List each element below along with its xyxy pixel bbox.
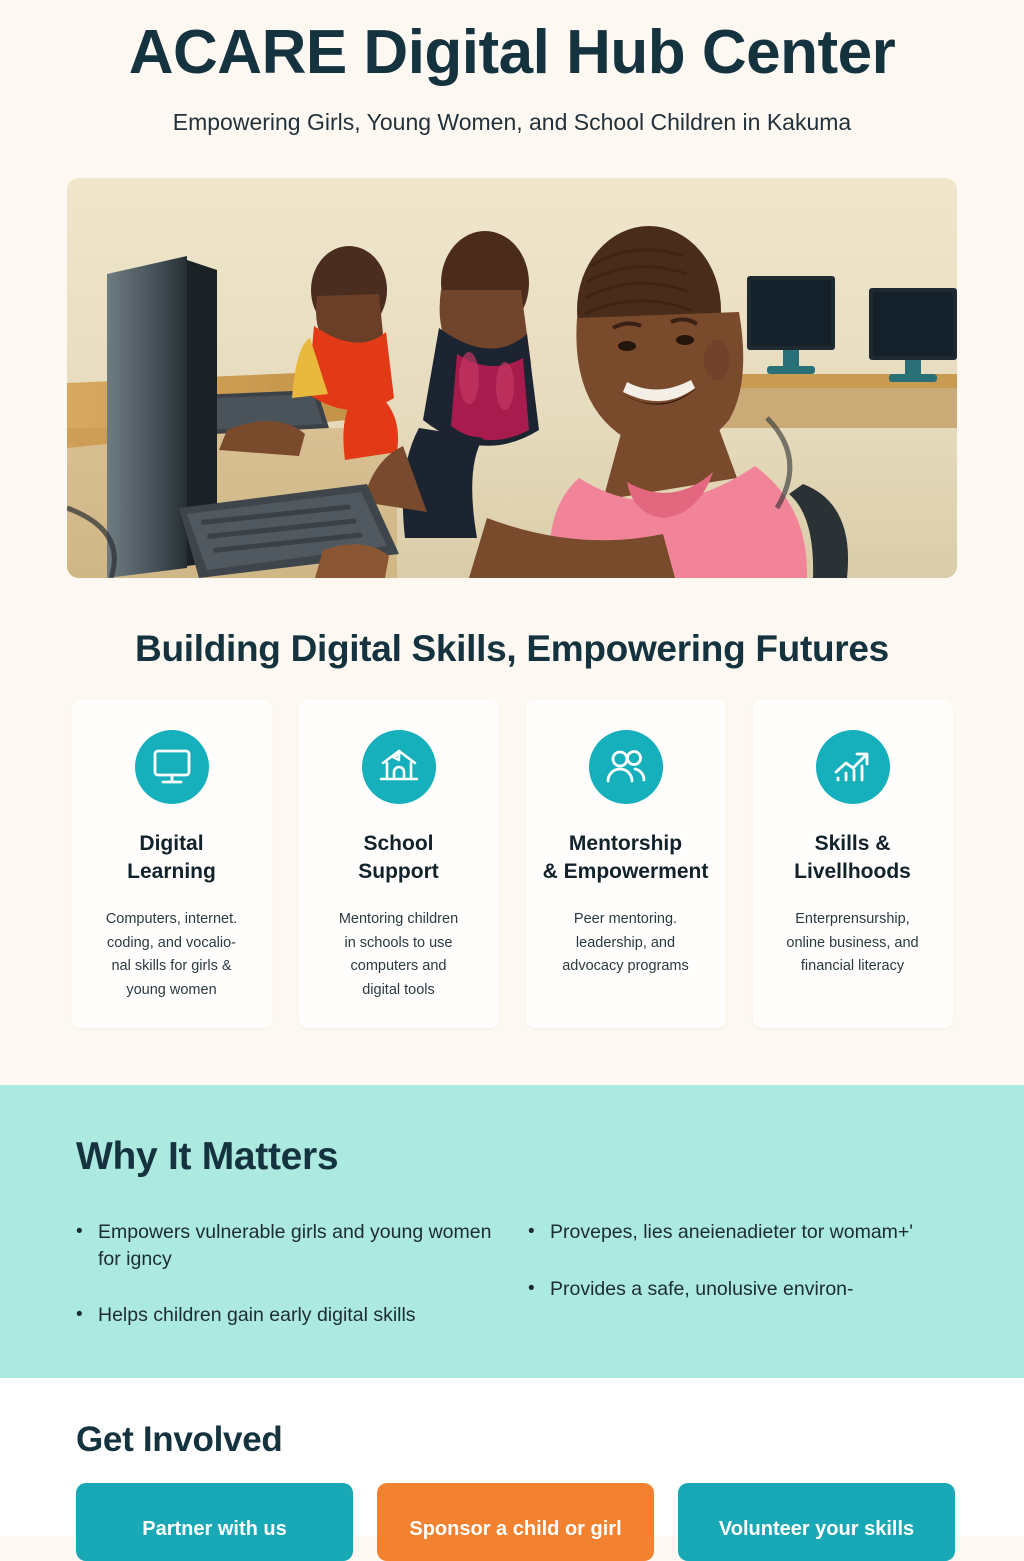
card-description: Enterprensurship, online business, and f…: [767, 908, 939, 978]
card-title: Skills & Livellhoods: [767, 830, 939, 886]
why-it-matters-section: Why It Matters • Empowers vulnerable gir…: [0, 1085, 1024, 1378]
program-card-digital-learning[interactable]: Digital Learning Computers, internet. co…: [72, 700, 272, 1028]
card-title: Digital Learning: [86, 830, 258, 886]
list-item-text: Provepes, lies aneienadieter tor womam+': [550, 1219, 948, 1246]
list-item-text: Helps children gain early digital skills: [98, 1302, 496, 1329]
program-cards: Digital Learning Computers, internet. co…: [0, 700, 1024, 1028]
card-title: Mentorship & Empowerment: [540, 830, 712, 886]
bullet-icon: •: [528, 1219, 550, 1246]
card-title: School Support: [313, 830, 485, 886]
partner-with-us-button[interactable]: Partner with us: [76, 1483, 353, 1561]
get-involved-title: Get Involved: [76, 1420, 948, 1460]
bullet-icon: •: [76, 1219, 98, 1272]
list-item: • Provides a safe, unolusive environ-: [528, 1276, 948, 1303]
list-item: • Empowers vulnerable girls and young wo…: [76, 1219, 496, 1272]
page-header: ACARE Digital Hub Center Empowering Girl…: [0, 0, 1024, 136]
list-item: • Helps children gain early digital skil…: [76, 1302, 496, 1329]
list-item: • Provepes, lies aneienadieter tor womam…: [528, 1219, 948, 1246]
card-description: Computers, internet. coding, and vocalio…: [86, 908, 258, 1002]
cta-button-row: Partner with us Sponsor a child or girl …: [76, 1483, 948, 1561]
list-item-text: Empowers vulnerable girls and young wome…: [98, 1219, 496, 1272]
program-card-mentorship[interactable]: Mentorship & Empowerment Peer mentoring.…: [526, 700, 726, 1028]
school-building-icon: [362, 730, 436, 804]
sponsor-a-child-button[interactable]: Sponsor a child or girl: [377, 1483, 654, 1561]
page-title: ACARE Digital Hub Center: [0, 18, 1024, 87]
bullet-icon: •: [76, 1302, 98, 1329]
card-description: Mentoring children in schools to use com…: [313, 908, 485, 1002]
why-left-column: • Empowers vulnerable girls and young wo…: [76, 1219, 496, 1359]
page-subtitle: Empowering Girls, Young Women, and Schoo…: [0, 109, 1024, 136]
program-card-skills-livelihoods[interactable]: Skills & Livellhoods Enterprensurship, o…: [753, 700, 953, 1028]
volunteer-your-skills-button[interactable]: Volunteer your skills: [678, 1483, 955, 1561]
program-card-school-support[interactable]: School Support Mentoring children in sch…: [299, 700, 499, 1028]
hero-image: [67, 178, 957, 578]
why-right-column: • Provepes, lies aneienadieter tor womam…: [528, 1219, 948, 1359]
list-item-text: Provides a safe, unolusive environ-: [550, 1276, 948, 1303]
programs-heading: Building Digital Skills, Empowering Futu…: [0, 628, 1024, 670]
card-description: Peer mentoring. leadership, and advocacy…: [540, 908, 712, 978]
get-involved-section: Get Involved Partner with us Sponsor a c…: [0, 1378, 1024, 1536]
computer-lab-photo-illustration: [67, 178, 957, 578]
growth-chart-icon: [816, 730, 890, 804]
monitor-icon: [135, 730, 209, 804]
why-it-matters-title: Why It Matters: [76, 1135, 948, 1179]
two-people-icon: [589, 730, 663, 804]
bullet-icon: •: [528, 1276, 550, 1303]
